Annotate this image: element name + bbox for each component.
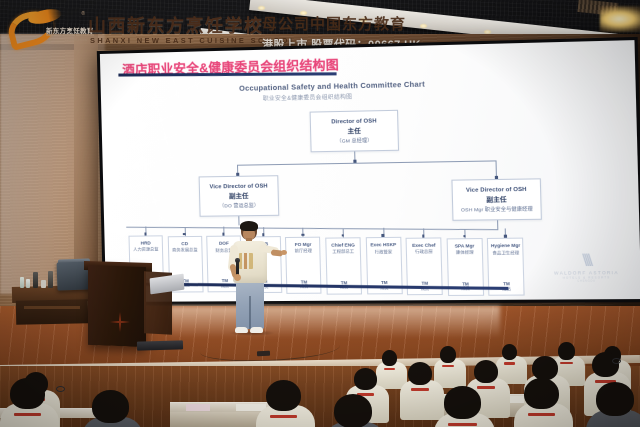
student-lanyard (411, 388, 429, 391)
org-node-rank: 主任 (347, 126, 361, 135)
student-glasses (56, 386, 65, 392)
side-table-shelf (24, 306, 80, 309)
student-head (502, 344, 517, 360)
downlight (258, 6, 265, 10)
slide-title-underline (118, 72, 336, 77)
presenter-tshirt-graphic (239, 253, 253, 269)
slide-subtitle-en: Occupational Safety and Health Committee… (239, 79, 425, 92)
org-leaf-abbr: FO Mgr (295, 242, 312, 248)
connector (237, 160, 496, 165)
org-node-title-en: Director of OSH (331, 118, 376, 125)
water-bottle (26, 279, 30, 288)
cup (41, 280, 46, 288)
org-leaf-abbr: HRD (141, 240, 151, 246)
floor-monitor-speaker (137, 340, 183, 350)
presenter-hand-left (234, 274, 241, 281)
student-head (532, 356, 558, 380)
watermark-mark-icon: \\\\ (551, 251, 621, 269)
presenter-jeans-seam (249, 296, 251, 329)
student-glasses (612, 358, 621, 364)
water-bottle (20, 277, 24, 288)
student-head (334, 394, 372, 427)
org-leaf-abbr: CD (181, 241, 188, 247)
presentation-slide: 酒店职业安全&健康委员会组织结构图 Occupational Safety an… (100, 40, 640, 302)
downlight (420, 24, 427, 28)
student-head (440, 346, 456, 363)
student-lanyard (504, 362, 515, 364)
org-leaf-abbr: Exec Chef (412, 243, 436, 249)
watermark-line3: CHENGDU (552, 279, 621, 283)
org-leaf-cn: 行政管家 (375, 249, 393, 254)
presenter-shoe-right (250, 327, 263, 333)
projection-screen: 酒店职业安全&健康委员会组织结构图 Occupational Safety an… (97, 37, 640, 305)
org-leaf-abbr: Chief ENG (331, 242, 355, 248)
org-leaf-cn: 康体经理 (456, 250, 474, 255)
student-lanyard (477, 386, 495, 389)
org-leaf-cn: 食品卫生经理 (492, 250, 519, 255)
org-leaf-cn: 前厅经理 (295, 248, 312, 253)
presenter-hand-right (281, 250, 287, 255)
org-node-title-cn: （DO 营运总监） (219, 201, 259, 209)
side-table-base (16, 299, 88, 325)
org-node-rank: 副主任 (229, 191, 249, 200)
slide-subtitle-cn: 职业安全&健康委员会组织结构图 (263, 92, 353, 102)
student-torso (400, 380, 444, 420)
org-leaf-cn: 工程部总工 (332, 249, 354, 254)
org-leaf-abbr: Exec HSKP (370, 242, 396, 248)
org-leaf-abbr: Hygiene Mgr (491, 243, 521, 249)
student-head (474, 360, 498, 383)
student-head (596, 382, 634, 416)
student-lanyard (560, 362, 573, 364)
student-head (92, 390, 129, 423)
student-head (524, 378, 559, 409)
org-node-title-cn: （GM 总经理） (336, 136, 372, 144)
wall-light-wash (0, 34, 105, 294)
presenter-hair (240, 221, 258, 231)
podium (88, 265, 146, 347)
student-lanyard (14, 413, 41, 416)
presenter-shoe-left (235, 327, 248, 333)
org-leaf-cn: 行政总厨 (415, 249, 433, 254)
org-node-director: Director of OSH 主任 （GM 总经理） (310, 110, 399, 153)
org-node-rank: 副主任 (486, 194, 507, 204)
logo-brand-en-sub: CHINA EAST EDUCATION (48, 39, 87, 42)
org-node-vice-director-1: Vice Director of OSH 副主任 （DO 营运总监） (199, 175, 280, 217)
student-lanyard (528, 413, 555, 416)
student-head (10, 378, 45, 409)
star-emblem-icon (110, 312, 130, 332)
registered-mark: ® (81, 11, 85, 17)
hotel-watermark: \\\\ WALDORF ASTORIA HOTELS & RESORTS CH… (551, 251, 621, 289)
floor-device (257, 351, 270, 356)
org-node-title-en: Vice Director of OSH (466, 186, 527, 193)
connector-bus (126, 227, 498, 230)
logo-brand-en: NEW EAST CUISINE EDUCATION (46, 33, 94, 37)
parent-company-cn: 母公司中国东方教育 (262, 13, 406, 34)
presenter (219, 222, 281, 334)
student-head (354, 368, 377, 390)
photo-scene: ® 新东方烹饪教育 NEW EAST CUISINE EDUCATION CHI… (0, 0, 640, 427)
desk-paper (186, 404, 210, 411)
student-lanyard (270, 415, 297, 418)
thermos (33, 272, 38, 288)
school-logo: ® 新东方烹饪教育 NEW EAST CUISINE EDUCATION CHI… (6, 8, 92, 50)
student-head (266, 380, 301, 411)
org-leaf-cn: 商务发展总监 (172, 247, 198, 252)
student-head (592, 352, 619, 377)
org-node-title-en: Vice Director of OSH (209, 183, 267, 190)
warm-ceiling-lamp (600, 6, 640, 32)
org-node-vice-director-2: Vice Director of OSH 副主任 OSH Mgr 职业安全与健康… (451, 178, 541, 221)
thermos (48, 271, 53, 288)
student-head (558, 342, 575, 360)
org-node-title-cn: OSH Mgr 职业安全与健康经理 (461, 205, 533, 213)
org-leaf-cn: 人力资源总监 (133, 247, 158, 252)
student-lanyard (448, 423, 477, 426)
student-head (444, 386, 481, 419)
school-name-cn: 山西新东方烹饪学校 (88, 12, 264, 38)
student-head (408, 362, 432, 385)
student-head (382, 350, 397, 366)
org-leaf-abbr: SPA Mgr (455, 243, 475, 249)
